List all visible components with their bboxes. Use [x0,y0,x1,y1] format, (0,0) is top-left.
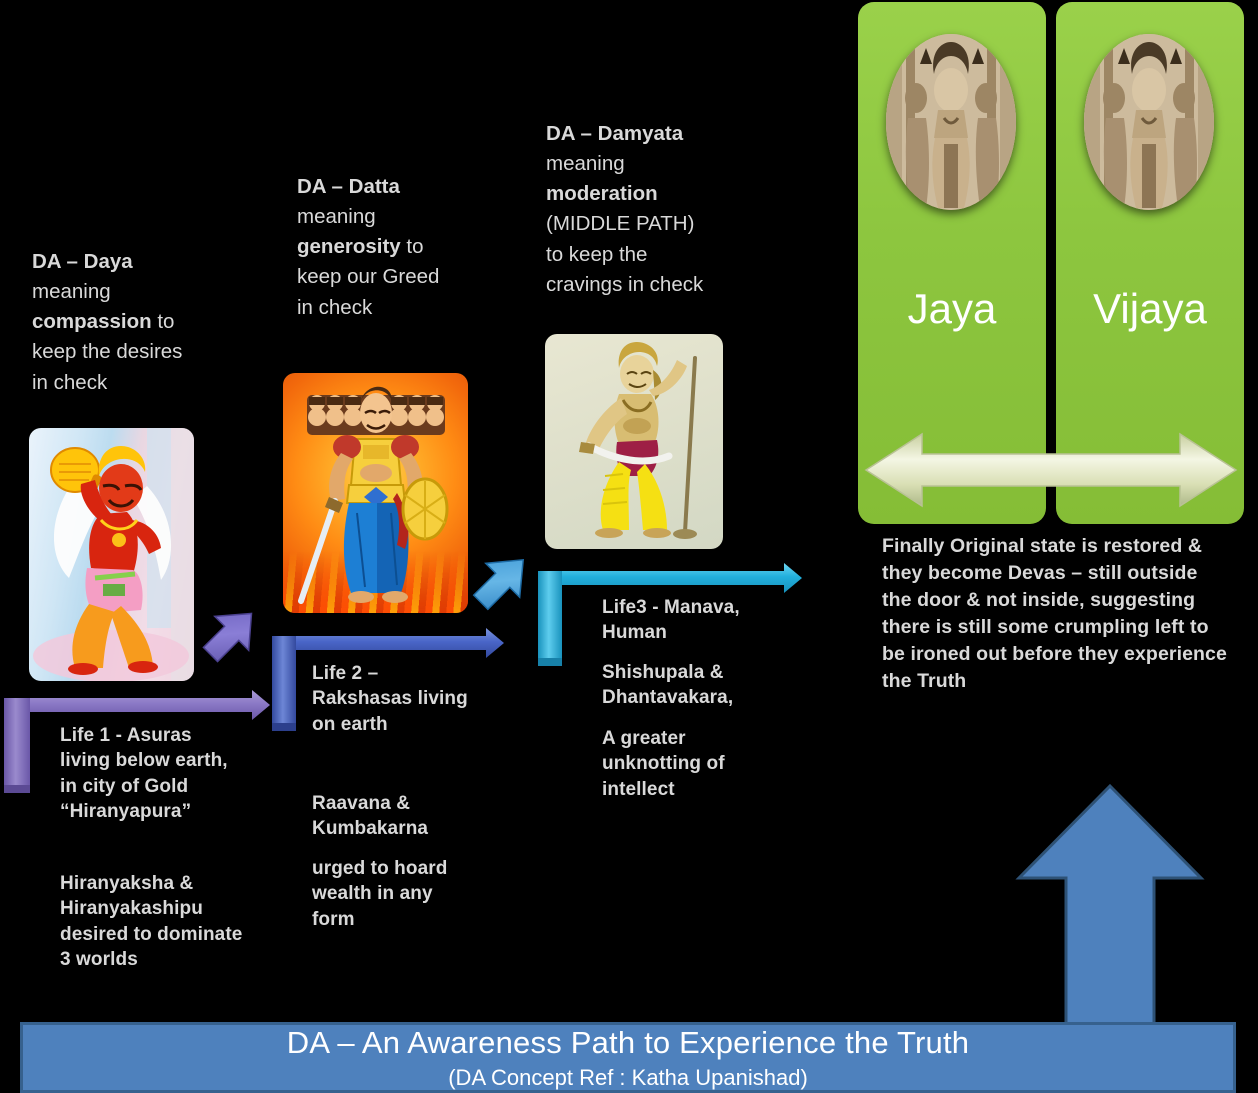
concept-line4-datta: in check [297,296,372,319]
concept-text-daya: DA – Daya meaning compassion to keep the… [32,247,262,398]
life3-text-3: A greater unknotting of intellect [602,726,732,802]
concept-tail-datta: to [401,235,424,258]
concept-head-damyata: DA – Damyata [546,122,683,145]
concept-line2-daya: meaning [32,280,111,303]
concept-line3-datta: keep our Greed [297,265,439,288]
life1-text-2: Hiranyaksha & Hiranyakashipu desired to … [60,871,245,972]
infographic-canvas: DA – Daya meaning compassion to keep the… [0,0,1258,1093]
concept-text-datta: DA – Datta meaning generosity to keep ou… [297,172,527,323]
concept-line2-damyata: meaning [546,152,625,175]
concept-line4-damyata: to keep the [546,243,647,266]
concept-bold-damyata: moderation [546,182,658,205]
banner-title: DA – An Awareness Path to Experience the… [287,1025,969,1061]
concept-line2-datta: meaning [297,205,376,228]
double-headed-horizontal-arrow [862,428,1240,512]
gatekeeper-name-vijaya: Vijaya [1056,285,1244,333]
vijaya-carving-image [1084,34,1214,210]
life3-text-1: Life3 - Manava, Human [602,595,772,646]
life2-text-3: urged to hoard wealth in any form [312,856,477,932]
concept-line5-damyata: cravings in check [546,273,703,296]
shishupala-manava-warrior-illustration [545,334,723,549]
jaya-carving-image [886,34,1016,210]
connector-arrow-life1-to-life2 [196,602,266,667]
ravana-ten-headed-rakshasa-illustration [283,373,468,613]
life1-text-1: Life 1 - Asuras living below earth, in c… [60,723,245,824]
life3-text-2: Shishupala & Dhantavakara, [602,660,767,711]
concept-line4-daya: in check [32,371,107,394]
concept-line3-damyata: (MIDDLE PATH) [546,212,694,235]
gatekeeper-name-jaya: Jaya [858,285,1046,333]
connector-arrow-life2-to-life3 [466,548,538,614]
concept-text-damyata: DA – Damyata meaning moderation (MIDDLE … [546,119,796,300]
life2-text-2: Raavana & Kumbakarna [312,791,482,842]
concept-head-daya: DA – Daya [32,250,133,273]
concept-tail-daya: to [152,310,175,333]
bottom-banner: DA – An Awareness Path to Experience the… [20,1022,1236,1093]
banner-subtitle: (DA Concept Ref : Katha Upanishad) [448,1065,808,1091]
life2-text-1: Life 2 – Rakshasas living on earth [312,661,477,737]
concept-line3-daya: keep the desires [32,340,182,363]
hiranyakashipu-asura-illustration [29,428,194,681]
concept-bold-datta: generosity [297,235,401,258]
concept-head-datta: DA – Datta [297,175,400,198]
conclusion-text: Finally Original state is restored & the… [882,533,1232,694]
upward-progress-arrow [1015,782,1205,1027]
concept-bold-daya: compassion [32,310,152,333]
